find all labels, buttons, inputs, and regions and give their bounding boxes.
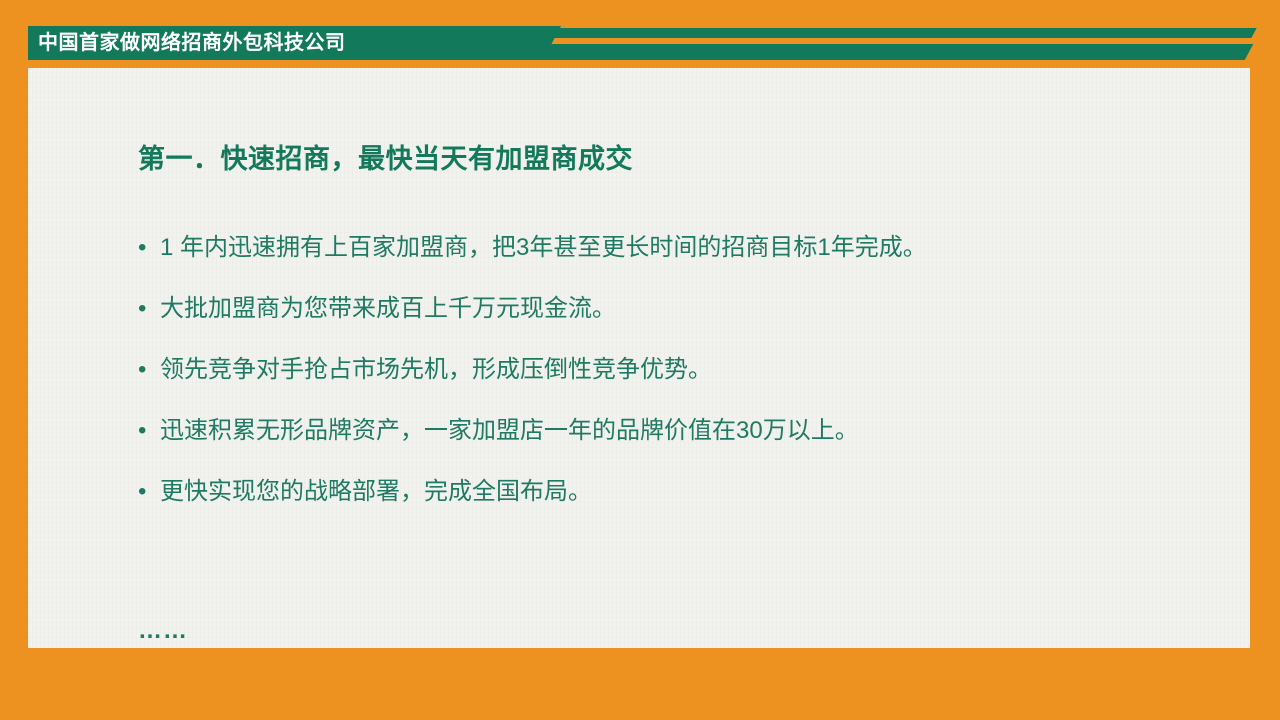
- bullet-dot-icon: •: [138, 232, 160, 264]
- list-item-text: 迅速积累无形品牌资产，一家加盟店一年的品牌价值在30万以上。: [160, 415, 1208, 447]
- top-banner-title: 中国首家做网络招商外包科技公司: [38, 29, 508, 57]
- bottom-banner: 按效果付费，前期不收任何费用: [0, 640, 1280, 720]
- top-banner-stripe-lower: [529, 44, 1254, 60]
- bullet-dot-icon: •: [138, 293, 160, 325]
- presentation-slide: 中国首家做网络招商外包科技公司 第一．快速招商，最快当天有加盟商成交 • 1 年…: [0, 0, 1280, 720]
- list-item-text: 领先竞争对手抢占市场先机，形成压倒性竞争优势。: [160, 354, 1208, 386]
- list-item: • 1 年内迅速拥有上百家加盟商，把3年甚至更长时间的招商目标1年完成。: [138, 232, 1208, 264]
- list-item: • 更快实现您的战略部署，完成全国布局。: [138, 476, 1208, 508]
- bullet-dot-icon: •: [138, 415, 160, 447]
- bullet-list: • 1 年内迅速拥有上百家加盟商，把3年甚至更长时间的招商目标1年完成。 • 大…: [138, 232, 1208, 537]
- bullet-dot-icon: •: [138, 476, 160, 508]
- list-item: • 迅速积累无形品牌资产，一家加盟店一年的品牌价值在30万以上。: [138, 415, 1208, 447]
- list-item: • 领先竞争对手抢占市场先机，形成压倒性竞争优势。: [138, 354, 1208, 386]
- page-title: 第一．快速招商，最快当天有加盟商成交: [138, 137, 633, 176]
- list-item-text: 1 年内迅速拥有上百家加盟商，把3年甚至更长时间的招商目标1年完成。: [160, 232, 1208, 264]
- list-item: • 大批加盟商为您带来成百上千万元现金流。: [138, 293, 1208, 325]
- top-banner: 中国首家做网络招商外包科技公司: [0, 0, 1280, 68]
- top-banner-stripe-upper: [537, 28, 1256, 38]
- bullet-dot-icon: •: [138, 354, 160, 386]
- list-item-text: 更快实现您的战略部署，完成全国布局。: [160, 476, 1208, 508]
- list-item-text: 大批加盟商为您带来成百上千万元现金流。: [160, 293, 1208, 325]
